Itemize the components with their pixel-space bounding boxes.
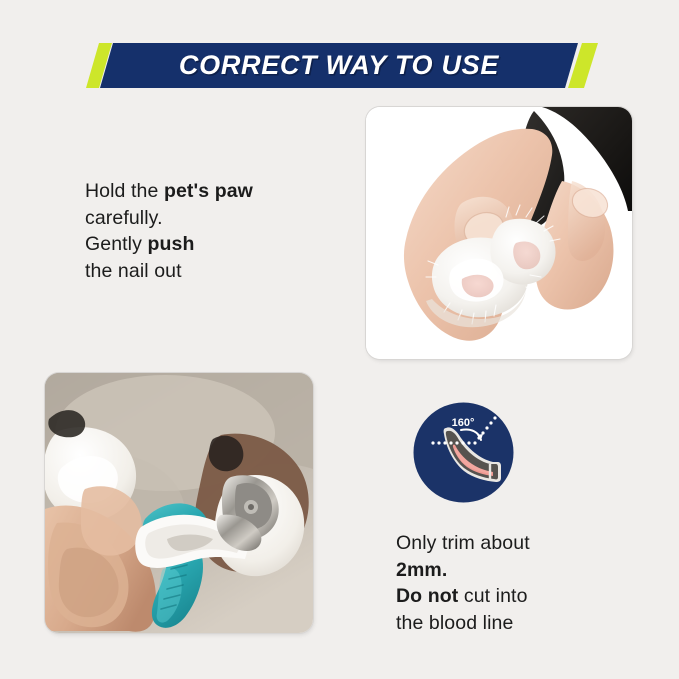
instruction-line: Do not cut into: [396, 583, 646, 610]
nail-angle-badge-graphic: 160°: [413, 402, 514, 503]
instruction-line: carefully.: [85, 205, 345, 232]
instruction-line: 2mm.: [396, 557, 646, 584]
photo-paw-hold-image: [366, 107, 632, 359]
photo-nail-clipping: [45, 373, 313, 633]
instruction-text: Only trim about: [396, 532, 530, 554]
page-title: CORRECT WAY TO USE: [100, 43, 578, 88]
photo-nail-clipping-image: [45, 373, 313, 633]
instruction-emphasis: pet's paw: [164, 180, 253, 202]
instruction-text: the nail out: [85, 260, 182, 282]
instruction-emphasis: 2mm.: [396, 559, 447, 581]
instruction-hold-paw: Hold the pet's pawcarefully.Gently pusht…: [85, 178, 345, 284]
instruction-trim-amount: Only trim about2mm.Do not cut intothe bl…: [396, 530, 646, 636]
poster-page: CORRECT WAY TO USE Hold the pet's pawcar…: [0, 0, 679, 679]
instruction-line: the nail out: [85, 258, 345, 285]
instruction-line: Hold the pet's paw: [85, 178, 345, 205]
instruction-text: cut into: [458, 585, 527, 607]
instruction-text: carefully.: [85, 207, 163, 229]
instruction-text: Gently: [85, 233, 147, 255]
instruction-text: the blood line: [396, 612, 513, 634]
header-banner: CORRECT WAY TO USE: [86, 43, 598, 88]
instruction-line: Only trim about: [396, 530, 646, 557]
nail-angle-badge: 160°: [413, 402, 514, 503]
instruction-line: Gently push: [85, 231, 345, 258]
instruction-emphasis: push: [147, 233, 194, 255]
photo-paw-hold: [366, 107, 632, 359]
instruction-line: the blood line: [396, 610, 646, 637]
instruction-emphasis: Do not: [396, 585, 458, 607]
angle-label: 160°: [452, 417, 475, 429]
instruction-text: Hold the: [85, 180, 164, 202]
